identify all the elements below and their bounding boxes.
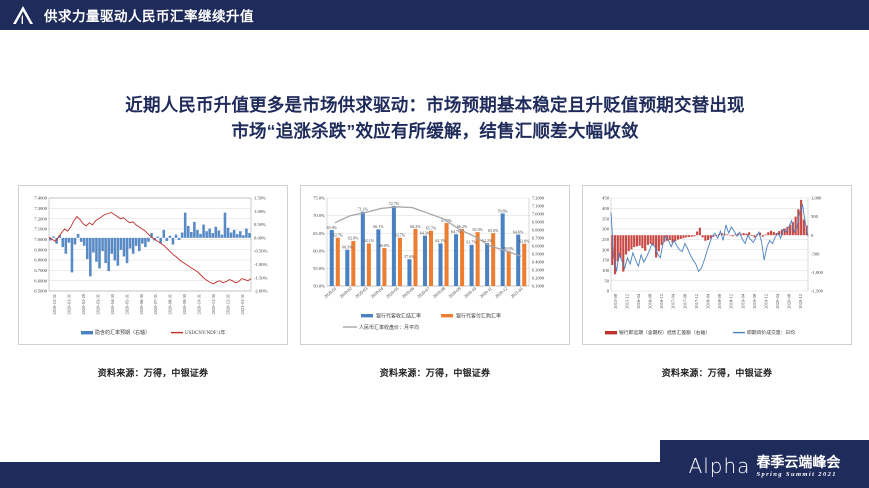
svg-text:7.1000: 7.1000: [34, 227, 47, 232]
svg-text:2020-12: 2020-12: [494, 286, 508, 299]
footer-brand-badge: Alpha 春季云端峰会 Spring Summit 2021: [660, 440, 869, 488]
svg-text:USDCNY:NDF:1年: USDCNY:NDF:1年: [185, 329, 225, 336]
svg-text:2020-08-31: 2020-08-31: [168, 294, 173, 315]
svg-text:65.7%: 65.7%: [426, 226, 437, 231]
svg-text:2020-10: 2020-10: [463, 285, 478, 299]
svg-text:2020-07: 2020-07: [416, 285, 431, 299]
svg-text:62.0%: 62.0%: [519, 239, 530, 244]
svg-text:2019-12-31: 2019-12-31: [52, 294, 57, 315]
svg-text:2017-12: 2017-12: [694, 294, 699, 309]
svg-text:61.7%: 61.7%: [466, 240, 477, 245]
svg-text:2016-12: 2016-12: [659, 294, 664, 309]
svg-text:0.00%: 0.00%: [254, 235, 266, 240]
chart1-canvas: 7.40007.30007.20007.10007.00006.90006.80…: [19, 186, 288, 345]
svg-text:0: 0: [811, 233, 814, 238]
svg-text:2020-11: 2020-11: [479, 286, 493, 299]
svg-text:2020-04: 2020-04: [775, 293, 780, 308]
svg-text:62.8%: 62.8%: [348, 236, 359, 241]
svg-text:7.2000: 7.2000: [532, 196, 545, 201]
summit-title-cn: 春季云端峰会: [756, 455, 840, 469]
page-title: 近期人民币升值更多是市场供求驱动：市场预期基本稳定且升贬值预期交替出现 市场“追…: [40, 92, 830, 144]
svg-text:7.4000: 7.4000: [34, 196, 47, 201]
svg-text:50: 50: [604, 278, 609, 283]
svg-text:300: 300: [602, 227, 610, 232]
svg-text:63.7%: 63.7%: [333, 233, 344, 238]
svg-text:57.6%: 57.6%: [404, 254, 415, 259]
chart-implied-fx-expectation: 7.40007.30007.20007.10007.00006.90006.80…: [18, 185, 288, 345]
svg-text:7.3000: 7.3000: [34, 206, 47, 211]
chart2-canvas: 75.0%70.0%65.0%60.0%55.0%50.0%7.20007.10…: [301, 186, 570, 345]
svg-text:2015-08: 2015-08: [613, 293, 618, 308]
charts-row: 7.40007.30007.20007.10007.00006.90006.80…: [18, 185, 854, 345]
chart3-canvas: 4504003503002502001501005001,0005000-500…: [583, 186, 852, 345]
svg-text:65.0%: 65.0%: [488, 228, 499, 233]
svg-text:55.0%: 55.0%: [313, 266, 325, 271]
svg-text:银行代客收汇结汇率: 银行代客收汇结汇率: [376, 312, 421, 319]
svg-text:50.0%: 50.0%: [313, 284, 325, 289]
svg-text:62.1%: 62.1%: [435, 238, 446, 243]
svg-text:66.2%: 66.2%: [410, 224, 421, 229]
triangle-a-logo-icon: [6, 0, 40, 30]
svg-text:2019-04: 2019-04: [740, 293, 745, 308]
source-caption-chart1: 资料来源：万得，中银证券: [18, 366, 288, 386]
svg-text:银行代客付汇购汇率: 银行代客付汇购汇率: [456, 312, 501, 319]
svg-text:2020-02-29: 2020-02-29: [81, 293, 86, 314]
svg-text:2020-05: 2020-05: [385, 285, 400, 299]
svg-text:1.00%: 1.00%: [254, 209, 266, 214]
svg-text:2017-08: 2017-08: [682, 293, 687, 308]
svg-text:64.6%: 64.6%: [513, 229, 524, 234]
svg-text:6.9000: 6.9000: [532, 220, 545, 225]
svg-text:-1,000: -1,000: [811, 270, 824, 276]
svg-text:75.0%: 75.0%: [313, 196, 325, 201]
svg-text:6.4000: 6.4000: [532, 260, 545, 265]
source-caption-chart3: 资料来源：万得，中银证券: [582, 366, 852, 386]
svg-text:7.0000: 7.0000: [532, 212, 545, 217]
svg-text:450: 450: [602, 196, 610, 201]
svg-text:150: 150: [602, 258, 610, 263]
svg-text:500: 500: [811, 214, 819, 219]
brand-alpha-wordmark: Alpha: [689, 454, 751, 478]
svg-text:60.3%: 60.3%: [342, 245, 353, 250]
svg-text:即期询价成交量：日均: 即期询价成交量：日均: [747, 329, 795, 336]
svg-text:1,000: 1,000: [811, 196, 822, 202]
svg-text:隐含的汇率预期（右轴）: 隐含的汇率预期（右轴）: [95, 329, 150, 336]
svg-text:2020-08: 2020-08: [432, 285, 447, 299]
svg-text:70.0%: 70.0%: [313, 213, 325, 218]
svg-text:7.1000: 7.1000: [532, 204, 545, 209]
svg-text:1.50%: 1.50%: [254, 196, 266, 201]
svg-text:-2.00%: -2.00%: [254, 289, 268, 294]
svg-text:-500: -500: [811, 251, 820, 256]
source-captions: 资料来源：万得，中银证券 资料来源：万得，中银证券 资料来源：万得，中银证券: [18, 366, 854, 386]
svg-text:2020-09: 2020-09: [447, 285, 462, 299]
svg-text:6.3000: 6.3000: [532, 268, 545, 273]
header-title: 供求力量驱动人民币汇率继续升值: [44, 5, 254, 25]
summit-title-en: Spring Summit 2021: [756, 471, 836, 478]
svg-text:2020-12-31: 2020-12-31: [225, 294, 230, 315]
svg-text:2017-04: 2017-04: [671, 293, 676, 308]
svg-text:银行即远期（含期权）结售汇差额（右轴）: 银行即远期（含期权）结售汇差额（右轴）: [619, 329, 710, 336]
page-title-line-2: 市场“追涨杀跌”效应有所缓解，结售汇顺差大幅收敛: [40, 118, 830, 144]
svg-text:6.5000: 6.5000: [532, 252, 545, 257]
svg-text:62.1%: 62.1%: [364, 238, 375, 243]
svg-text:2018-04: 2018-04: [706, 293, 711, 308]
svg-text:6.6000: 6.6000: [532, 244, 545, 249]
svg-text:6.7000: 6.7000: [34, 268, 47, 273]
svg-text:2021-01: 2021-01: [509, 286, 523, 299]
svg-text:-1.00%: -1.00%: [254, 262, 268, 267]
svg-text:2021-01-31: 2021-01-31: [240, 294, 245, 315]
svg-text:200: 200: [602, 247, 610, 252]
svg-text:70.6%: 70.6%: [498, 208, 509, 213]
svg-text:-1,500: -1,500: [811, 289, 824, 295]
svg-text:65.3%: 65.3%: [472, 227, 483, 232]
svg-text:0.50%: 0.50%: [254, 222, 266, 227]
svg-text:72.7%: 72.7%: [389, 201, 400, 206]
svg-text:2020-01-31: 2020-01-31: [67, 294, 72, 315]
svg-text:6.9000: 6.9000: [34, 247, 47, 252]
svg-text:100: 100: [602, 268, 610, 273]
svg-text:2018-08: 2018-08: [717, 293, 722, 308]
svg-text:2020-06-30: 2020-06-30: [139, 293, 144, 314]
svg-text:-1.50%: -1.50%: [254, 275, 268, 280]
svg-text:2019-08: 2019-08: [752, 293, 757, 308]
source-caption-chart2: 资料来源：万得，中银证券: [300, 366, 570, 386]
svg-text:-0.50%: -0.50%: [254, 249, 268, 254]
svg-text:65.9%: 65.9%: [327, 225, 338, 230]
svg-text:2020-08: 2020-08: [787, 293, 792, 308]
svg-text:400: 400: [602, 206, 610, 211]
svg-text:250: 250: [602, 237, 610, 242]
svg-text:2020-06: 2020-06: [401, 285, 416, 299]
svg-text:2020-04-30: 2020-04-30: [110, 293, 115, 314]
svg-text:66.1%: 66.1%: [373, 224, 384, 229]
chart-fx-settlement-balance: 4504003503002502001501005001,0005000-500…: [582, 185, 852, 345]
svg-text:66.2%: 66.2%: [457, 224, 468, 229]
svg-text:6.5000: 6.5000: [34, 289, 47, 294]
svg-text:2016-04: 2016-04: [636, 293, 641, 308]
svg-text:64.3%: 64.3%: [420, 230, 431, 235]
svg-text:60.8%: 60.8%: [379, 243, 390, 248]
svg-text:2020-10-31: 2020-10-31: [197, 294, 202, 315]
svg-text:6.7000: 6.7000: [532, 236, 545, 241]
svg-text:65.0%: 65.0%: [313, 231, 325, 236]
svg-text:6.1000: 6.1000: [532, 284, 545, 289]
svg-text:63.7%: 63.7%: [395, 233, 406, 238]
svg-text:2020-09-30: 2020-09-30: [182, 293, 187, 314]
svg-text:7.2000: 7.2000: [34, 216, 47, 221]
chart-settlement-purchase-ratio: 75.0%70.0%65.0%60.0%55.0%50.0%7.20007.10…: [300, 185, 570, 345]
svg-text:2015-12: 2015-12: [624, 294, 629, 309]
svg-text:6.6000: 6.6000: [34, 278, 47, 283]
svg-text:2016-08: 2016-08: [648, 293, 653, 308]
svg-text:2020-07-31: 2020-07-31: [153, 294, 158, 315]
page-title-line-1: 近期人民币升值更多是市场供求驱动：市场预期基本稳定且升贬值预期交替出现: [40, 92, 830, 118]
svg-text:350: 350: [602, 216, 610, 221]
svg-text:2019-12: 2019-12: [763, 294, 768, 309]
svg-text:2020-01: 2020-01: [323, 286, 337, 299]
svg-text:2020-03-31: 2020-03-31: [96, 294, 101, 315]
svg-text:6.8000: 6.8000: [34, 258, 47, 263]
svg-text:60.0%: 60.0%: [313, 248, 325, 253]
svg-text:6.8000: 6.8000: [532, 228, 545, 233]
svg-text:6.2000: 6.2000: [532, 276, 545, 281]
svg-text:2020-04: 2020-04: [370, 285, 385, 299]
svg-text:2020-02: 2020-02: [339, 286, 353, 299]
svg-text:0: 0: [607, 289, 610, 294]
svg-text:2020-05-31: 2020-05-31: [124, 294, 129, 315]
svg-text:7.0000: 7.0000: [34, 237, 47, 242]
slide-header-bar: 供求力量驱动人民币汇率继续升值: [0, 0, 869, 30]
svg-text:71.1%: 71.1%: [358, 207, 369, 212]
svg-text:人民币汇率收盘价：月平均: 人民币汇率收盘价：月平均: [359, 324, 419, 331]
svg-text:2018-12: 2018-12: [729, 294, 734, 309]
svg-text:2020-11-30: 2020-11-30: [211, 293, 216, 314]
svg-text:2020-12: 2020-12: [798, 294, 803, 309]
svg-text:2020-03: 2020-03: [354, 285, 369, 299]
